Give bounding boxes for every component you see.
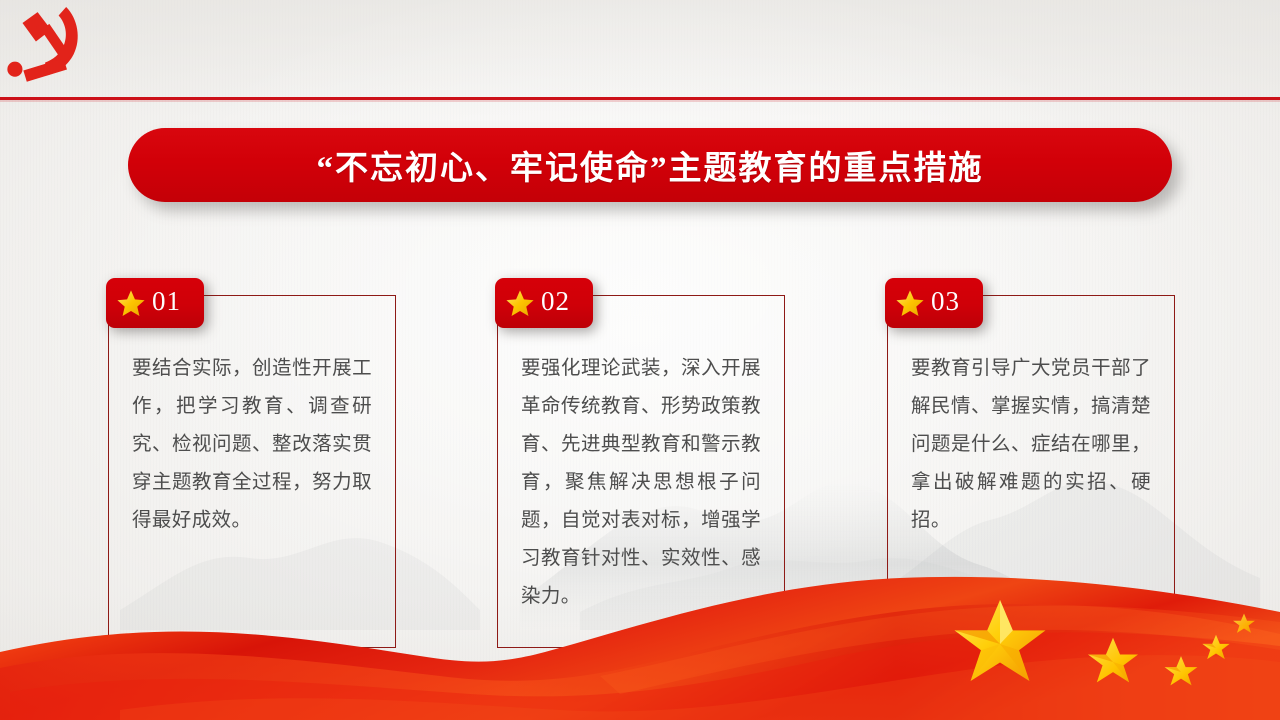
gold-star-icon [505,288,535,318]
gold-star-icon [895,288,925,318]
card-body-text: 要结合实际，创造性开展工作，把学习教育、调查研究、检视问题、整改落实贯穿主题教育… [132,350,372,540]
header [0,0,1280,100]
card-number-badge[interactable]: 02 [495,278,593,328]
card-number-label: 01 [152,288,181,318]
page-title: “不忘初心、牢记使命”主题教育的重点措施 [317,141,984,189]
chinese-flag-ribbon-icon [0,560,1280,720]
gold-star-icon [116,288,146,318]
card-number-badge[interactable]: 01 [106,278,204,328]
card-number-label: 02 [541,288,570,318]
card-number-label: 03 [931,288,960,318]
slide-canvas: “不忘初心、牢记使命”主题教育的重点措施 01 要结合实际，创造性开展工作，把学… [0,0,1280,720]
header-red-rule-shadow [0,100,1280,102]
card-body-text: 要教育引导广大党员干部了解民情、掌握实情，搞清楚问题是什么、症结在哪里，拿出破解… [911,350,1151,540]
title-banner: “不忘初心、牢记使命”主题教育的重点措施 [128,128,1172,202]
card-number-badge[interactable]: 03 [885,278,983,328]
cpc-hammer-sickle-emblem-icon [4,2,88,86]
title-banner-pill: “不忘初心、牢记使命”主题教育的重点措施 [128,128,1172,202]
